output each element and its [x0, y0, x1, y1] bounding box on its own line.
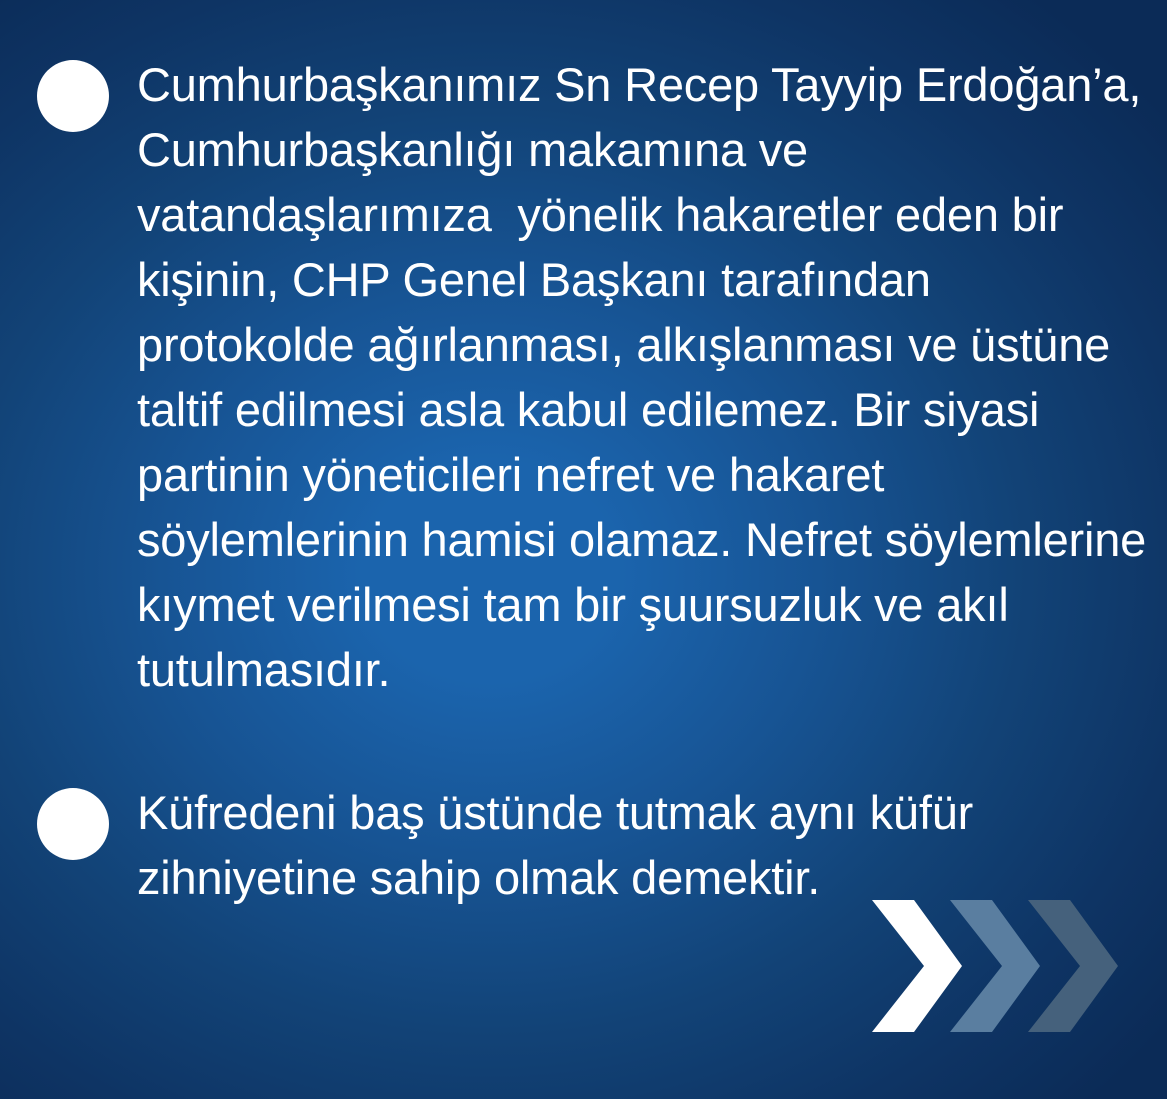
bullet-text-2: Küfredeni baş üstünde tutmak aynı küfür … [137, 780, 1159, 910]
bullet-circle-icon [37, 60, 109, 132]
bullet-text-1: Cumhurbaşkanımız Sn Recep Tayyip Erdoğan… [137, 52, 1159, 702]
chevron-right-icon-3 [1022, 900, 1118, 1032]
triple-chevron-decoration [866, 900, 1116, 1032]
slide-canvas: Cumhurbaşkanımız Sn Recep Tayyip Erdoğan… [0, 0, 1167, 1099]
slide-content: Cumhurbaşkanımız Sn Recep Tayyip Erdoğan… [0, 0, 1167, 1099]
bullet-circle-icon [37, 788, 109, 860]
